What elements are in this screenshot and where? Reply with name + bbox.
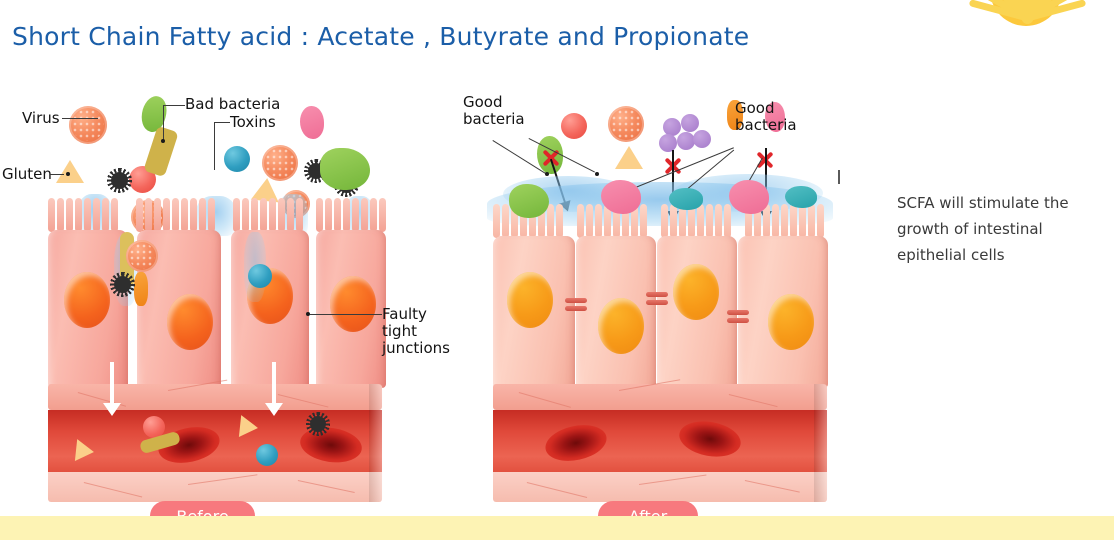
label-bad-bacteria: Bad bacteria xyxy=(185,96,280,113)
good-shaped-bacteria xyxy=(320,148,370,190)
label-virus: Virus xyxy=(22,110,60,127)
gluten-triangle xyxy=(56,160,84,183)
leaked-blue-particle xyxy=(256,444,278,466)
red-particle xyxy=(561,113,587,139)
page-title: Short Chain Fatty acid : Acetate , Butyr… xyxy=(12,22,749,51)
scfa-note: SCFA will stimulate the growth of intest… xyxy=(897,190,1097,268)
good-bacteria xyxy=(601,180,641,214)
label-good-bacteria-right: Good bacteria xyxy=(735,100,797,134)
label-faulty-tight-junctions: Faulty tight junctions xyxy=(382,306,450,357)
villi-row xyxy=(316,198,386,232)
virus-particle xyxy=(262,145,298,181)
virus-in-gap xyxy=(126,240,158,272)
epithelial-cell xyxy=(231,230,309,388)
leak-arrow xyxy=(110,362,114,404)
tight-junction xyxy=(565,298,587,314)
label-toxins: Toxins xyxy=(230,114,276,131)
toxin-particle xyxy=(114,276,131,293)
epithelium-before xyxy=(48,198,386,390)
tight-junction xyxy=(646,292,668,308)
villi-row xyxy=(48,198,118,232)
toxin-bacteria xyxy=(300,106,324,139)
label-gluten: Gluten xyxy=(2,166,52,183)
blue-particle xyxy=(224,146,250,172)
sun-icon xyxy=(960,0,1092,64)
blood-vessel-after xyxy=(493,384,827,502)
leaked-gluten xyxy=(239,415,259,439)
purple-pathogen xyxy=(693,130,711,148)
blue-particle-in-gap xyxy=(248,264,272,288)
leaked-toxin xyxy=(310,416,326,432)
tight-junction xyxy=(727,310,749,326)
bottom-accent-band xyxy=(0,516,1114,540)
bad-bacteria-tail xyxy=(143,126,178,177)
bacteria-in-gap xyxy=(134,272,148,306)
leaked-gluten xyxy=(75,439,95,463)
epithelial-cell xyxy=(738,236,828,388)
label-good-bacteria-left: Good bacteria xyxy=(463,94,525,128)
slide-canvas: Short Chain Fatty acid : Acetate , Butyr… xyxy=(0,0,1114,540)
blood-vessel-before xyxy=(48,384,382,502)
leak-arrow xyxy=(272,362,276,404)
virus-particle xyxy=(69,106,107,144)
villi-row xyxy=(661,204,731,238)
epithelial-cell xyxy=(493,236,575,388)
toxin-particle xyxy=(111,172,128,189)
epithelial-cell xyxy=(316,230,386,388)
epithelium-after xyxy=(493,198,831,390)
good-bacteria xyxy=(669,188,703,210)
good-bacteria xyxy=(509,184,549,218)
epithelial-cell xyxy=(576,236,656,388)
panel-after: Good bacteria Good bacteria After xyxy=(445,88,845,540)
villi-row xyxy=(136,198,215,232)
gluten-triangle xyxy=(615,146,643,169)
good-bacteria xyxy=(729,180,769,214)
purple-pathogen xyxy=(659,134,677,152)
virus-particle xyxy=(608,106,644,142)
villi-row xyxy=(233,198,303,232)
panel-before: Virus Bad bacteria Toxins Gluten Faulty … xyxy=(0,88,400,540)
good-bacteria xyxy=(785,186,817,208)
purple-pathogen xyxy=(681,114,699,132)
epithelial-cell xyxy=(657,236,737,388)
